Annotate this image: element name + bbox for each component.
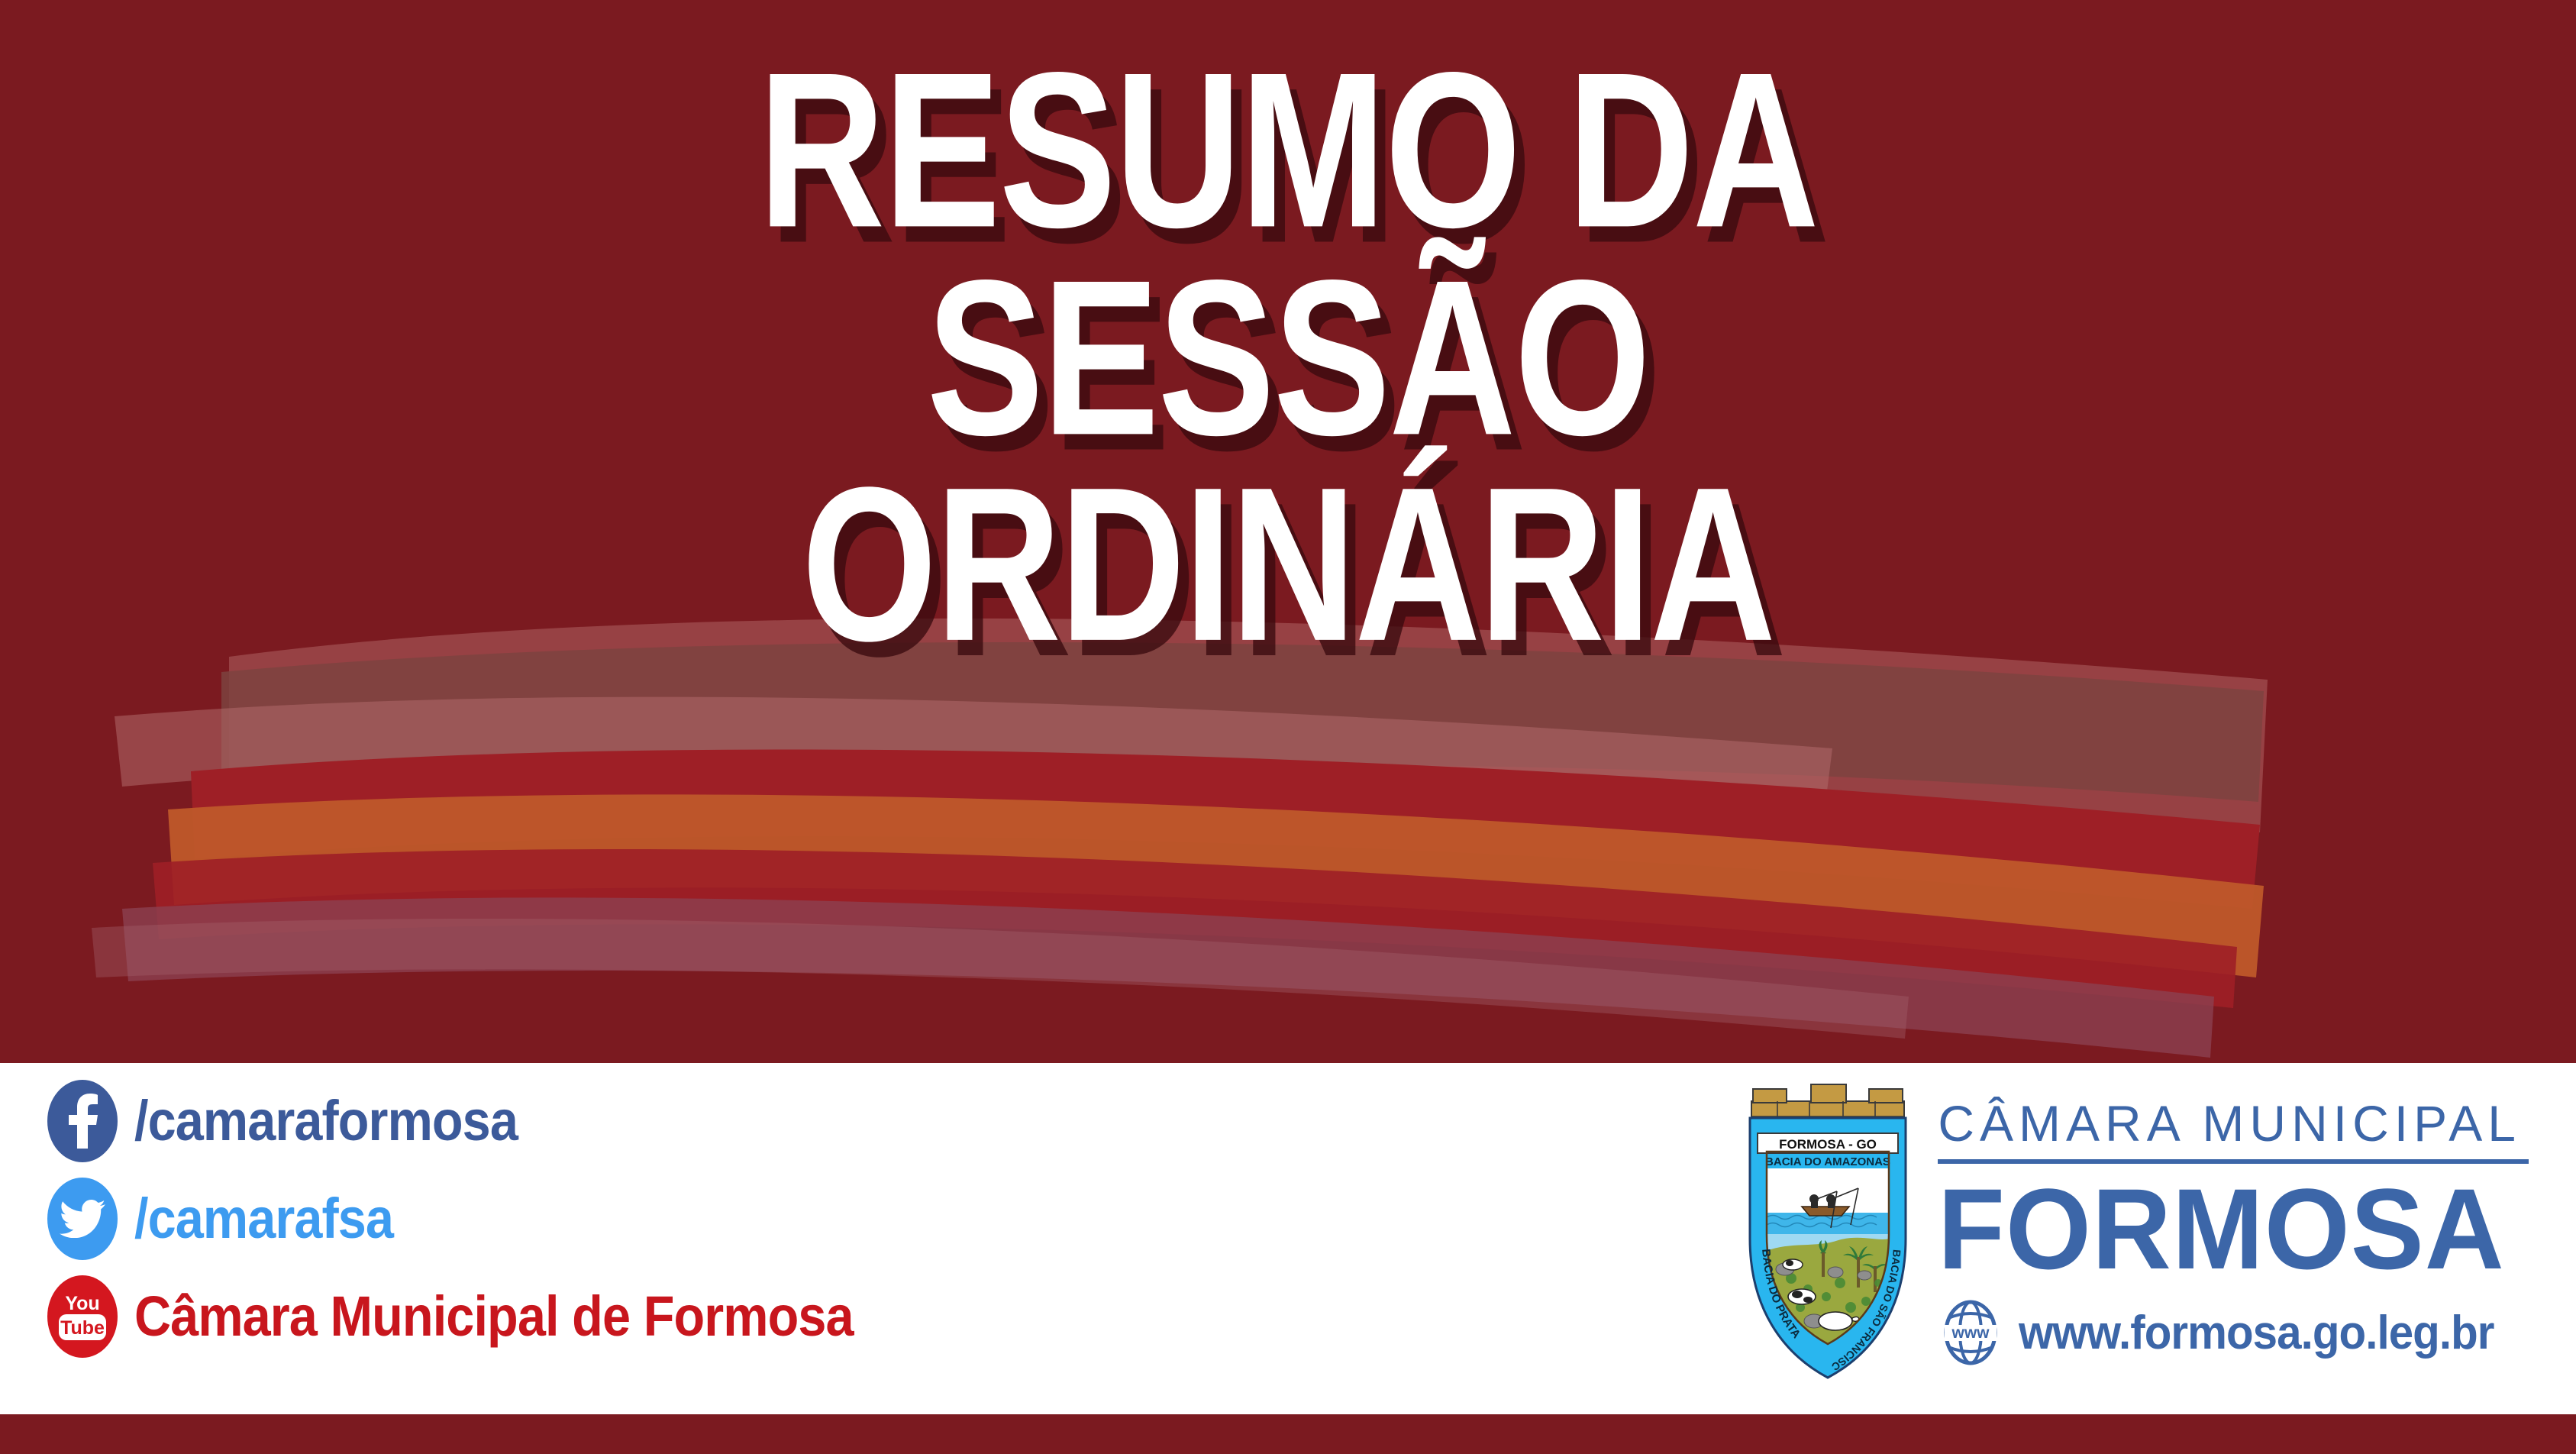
brand-line-camara-municipal: CÂMARA MUNICIPAL <box>1938 1098 2529 1149</box>
social-row-youtube[interactable]: You Tube Câmara Municipal de Formosa <box>47 1275 933 1358</box>
hero-line-2: SESSÃO <box>927 255 1650 461</box>
twitter-icon[interactable] <box>47 1178 118 1260</box>
footer-bar: /camaraformosa /camarafsa You Tube <box>0 1063 2576 1414</box>
youtube-badge-bottom: Tube <box>60 1317 105 1339</box>
crest-basin-top: BACIA DO AMAZONAS <box>1765 1155 1890 1168</box>
hero-title-block: RESUMO DA SESSÃO ORDINÁRIA <box>0 0 2576 1063</box>
website-row[interactable]: www www.formosa.go.leg.br <box>1938 1300 2529 1365</box>
social-links-list: /camaraformosa /camarafsa You Tube <box>47 1080 933 1358</box>
hero-line-1: RESUMO DA <box>758 47 1818 254</box>
www-globe-icon: www <box>1938 1300 2003 1365</box>
bottom-accent-strip <box>0 1414 2576 1454</box>
poster-canvas: RESUMO DA SESSÃO ORDINÁRIA /camaraformos… <box>0 0 2576 1454</box>
facebook-icon[interactable] <box>47 1080 118 1162</box>
brand-wordmark-formosa: FORMOSA <box>1938 1171 2505 1286</box>
website-url[interactable]: www.formosa.go.leg.br <box>2019 1306 2494 1360</box>
youtube-icon[interactable]: You Tube <box>47 1275 118 1358</box>
social-label-facebook: /camaraformosa <box>134 1093 518 1149</box>
social-label-twitter: /camarafsa <box>134 1191 393 1247</box>
brand-text-block: CÂMARA MUNICIPAL FORMOSA www <box>1938 1078 2529 1365</box>
crest-city-label: FORMOSA - GO <box>1779 1137 1877 1152</box>
formosa-coat-of-arms: FORMOSA - GO BACIA DO AMAZONAS <box>1744 1078 1912 1384</box>
brand-block: FORMOSA - GO BACIA DO AMAZONAS <box>1744 1078 2529 1399</box>
brand-divider-rule <box>1938 1159 2529 1164</box>
social-label-youtube: Câmara Municipal de Formosa <box>134 1288 854 1345</box>
hero-line-3: ORDINÁRIA <box>802 463 1774 667</box>
social-row-twitter[interactable]: /camarafsa <box>47 1178 933 1260</box>
social-row-facebook[interactable]: /camaraformosa <box>47 1080 933 1162</box>
globe-www-text: www <box>1951 1324 1990 1342</box>
youtube-badge-top: You <box>65 1293 99 1314</box>
